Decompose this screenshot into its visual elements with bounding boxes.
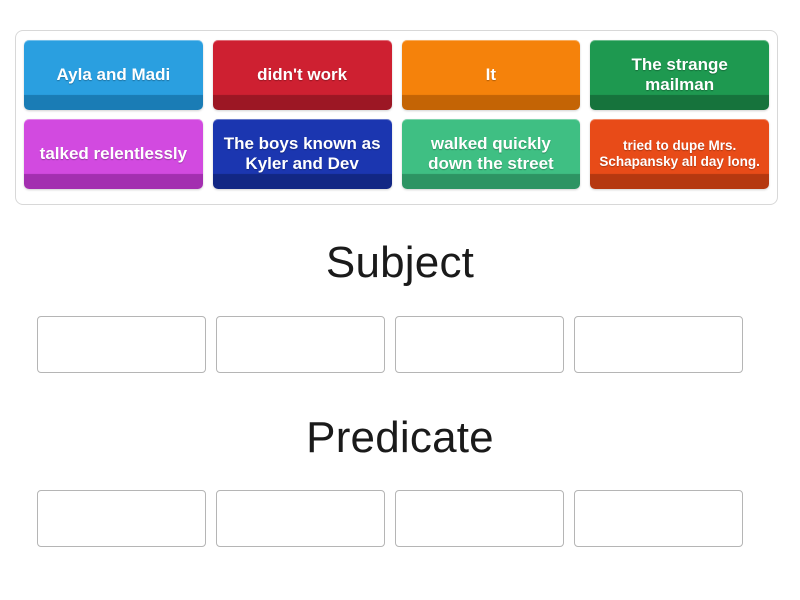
tile-label: The strange mailman	[597, 55, 762, 95]
tile-it[interactable]: It	[402, 40, 581, 110]
dropzone-predicate-3[interactable]	[395, 490, 564, 547]
tile-label: walked quickly down the street	[409, 134, 574, 174]
tile-tried-to-dupe-mrs-schapansky[interactable]: tried to dupe Mrs. Schapansky all day lo…	[590, 119, 769, 189]
dropzone-subject-4[interactable]	[574, 316, 743, 373]
dropzone-subject-3[interactable]	[395, 316, 564, 373]
dropzone-subject-1[interactable]	[37, 316, 206, 373]
tile-label: The boys known as Kyler and Dev	[220, 134, 385, 174]
tile-label: tried to dupe Mrs. Schapansky all day lo…	[597, 138, 762, 171]
tile-label: Ayla and Madi	[31, 65, 196, 85]
tile-label: It	[409, 65, 574, 85]
tile-the-boys-known-as-kyler-and-dev[interactable]: The boys known as Kyler and Dev	[213, 119, 392, 189]
tile-ayla-and-madi[interactable]: Ayla and Madi	[24, 40, 203, 110]
tile-the-strange-mailman[interactable]: The strange mailman	[590, 40, 769, 110]
dropzone-predicate-2[interactable]	[216, 490, 385, 547]
tile-tray: Ayla and Madi didn't work It The strange…	[15, 30, 778, 205]
tile-row-2: talked relentlessly The boys known as Ky…	[24, 119, 769, 189]
tile-label: didn't work	[220, 65, 385, 85]
dropzone-group-subject	[37, 316, 763, 373]
tile-walked-quickly-down-the-street[interactable]: walked quickly down the street	[402, 119, 581, 189]
section-heading-predicate: Predicate	[0, 413, 800, 463]
tile-label: talked relentlessly	[31, 144, 196, 164]
group-sort-activity: Ayla and Madi didn't work It The strange…	[0, 0, 800, 600]
dropzone-subject-2[interactable]	[216, 316, 385, 373]
dropzone-predicate-1[interactable]	[37, 490, 206, 547]
tile-talked-relentlessly[interactable]: talked relentlessly	[24, 119, 203, 189]
dropzone-predicate-4[interactable]	[574, 490, 743, 547]
tile-row-1: Ayla and Madi didn't work It The strange…	[24, 40, 769, 110]
section-heading-subject: Subject	[0, 238, 800, 288]
dropzone-group-predicate	[37, 490, 763, 547]
tile-didnt-work[interactable]: didn't work	[213, 40, 392, 110]
